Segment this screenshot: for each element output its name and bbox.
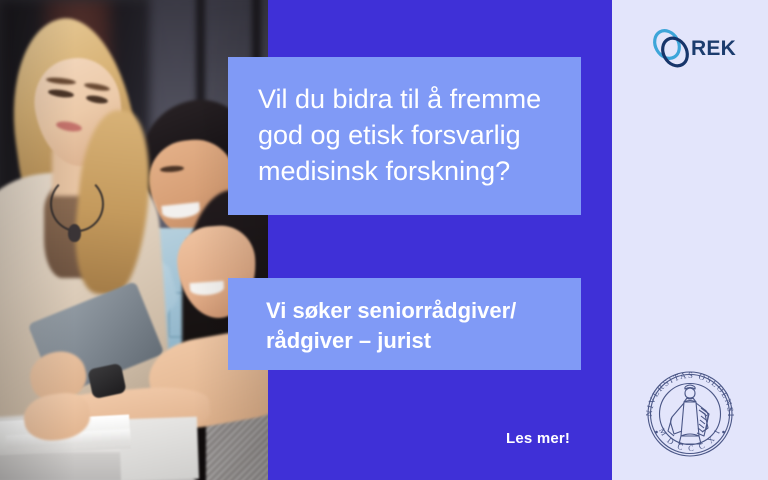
job-title-line: rådgiver – jurist bbox=[266, 326, 559, 356]
headline-line: Vil du bidra til å fremme bbox=[258, 81, 555, 117]
headline-line: god og etisk forsvarlig bbox=[258, 117, 555, 153]
rek-logo: REK bbox=[650, 26, 742, 70]
headline-line: medisinsk forskning? bbox=[258, 153, 555, 189]
job-title-box: Vi søker seniorrådgiver/ rådgiver – juri… bbox=[228, 278, 581, 370]
recruitment-banner: REK UNIVERSITAS OSLOENSIS M D C C C X I bbox=[0, 0, 768, 480]
job-title-line: Vi søker seniorrådgiver/ bbox=[266, 296, 559, 326]
uio-seal: UNIVERSITAS OSLOENSIS M D C C C X I bbox=[638, 362, 742, 466]
read-more-link[interactable]: Les mer! bbox=[506, 430, 570, 447]
interlocking-rings-icon bbox=[650, 27, 694, 69]
svg-text:UNIVERSITAS OSLOENSIS: UNIVERSITAS OSLOENSIS bbox=[638, 362, 736, 418]
university-of-oslo-seal-icon: UNIVERSITAS OSLOENSIS M D C C C X I bbox=[638, 362, 742, 466]
headline-box: Vil du bidra til å fremme god og etisk f… bbox=[228, 57, 581, 215]
rek-wordmark: REK bbox=[691, 38, 736, 59]
